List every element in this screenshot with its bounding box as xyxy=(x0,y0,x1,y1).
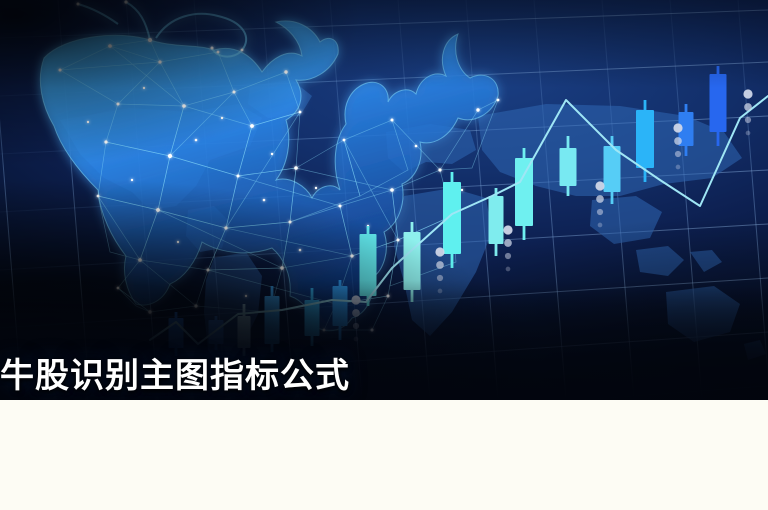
candle-body xyxy=(515,158,533,226)
dot-marker xyxy=(504,239,512,247)
dot-marker xyxy=(436,261,444,269)
dot-marker xyxy=(351,295,360,304)
dot-marker xyxy=(673,123,682,132)
dot-marker xyxy=(352,309,360,317)
dot-marker xyxy=(597,209,603,215)
candle-body xyxy=(710,74,727,132)
candlestick-chart xyxy=(0,0,768,400)
dot-marker xyxy=(506,267,511,272)
dot-marker xyxy=(744,103,752,111)
dot-marker xyxy=(676,165,681,170)
candle-body xyxy=(604,146,621,192)
dot-marker xyxy=(743,89,752,98)
candle-body xyxy=(333,286,348,326)
hero-banner: 牛股识别主图指标公式 xyxy=(0,0,768,400)
dot-marker xyxy=(598,223,603,228)
page-root: 牛股识别主图指标公式 xyxy=(0,0,768,510)
dot-marker xyxy=(354,337,359,342)
dot-marker xyxy=(674,137,682,145)
candle-body xyxy=(636,110,654,168)
dot-marker xyxy=(675,151,681,157)
dot-marker xyxy=(353,323,359,329)
candle-body xyxy=(360,234,377,296)
dot-marker xyxy=(505,253,511,259)
candle-body xyxy=(404,232,421,290)
dot-marker xyxy=(596,195,604,203)
footer-blank-area xyxy=(0,400,768,510)
candle-body xyxy=(560,148,577,186)
candle-body xyxy=(265,296,280,344)
dot-marker xyxy=(503,225,512,234)
dot-marker xyxy=(435,247,444,256)
dot-marker xyxy=(438,289,443,294)
dot-marker xyxy=(745,117,751,123)
candle-body xyxy=(443,182,461,254)
page-title: 牛股识别主图指标公式 xyxy=(0,359,350,393)
dot-marker xyxy=(746,131,751,136)
dot-marker xyxy=(595,181,604,190)
hero-caption: 牛股识别主图指标公式 xyxy=(0,352,768,400)
candle-body xyxy=(238,316,251,348)
candle-body xyxy=(209,320,224,344)
dot-marker xyxy=(437,275,443,281)
candle-body xyxy=(489,196,504,244)
